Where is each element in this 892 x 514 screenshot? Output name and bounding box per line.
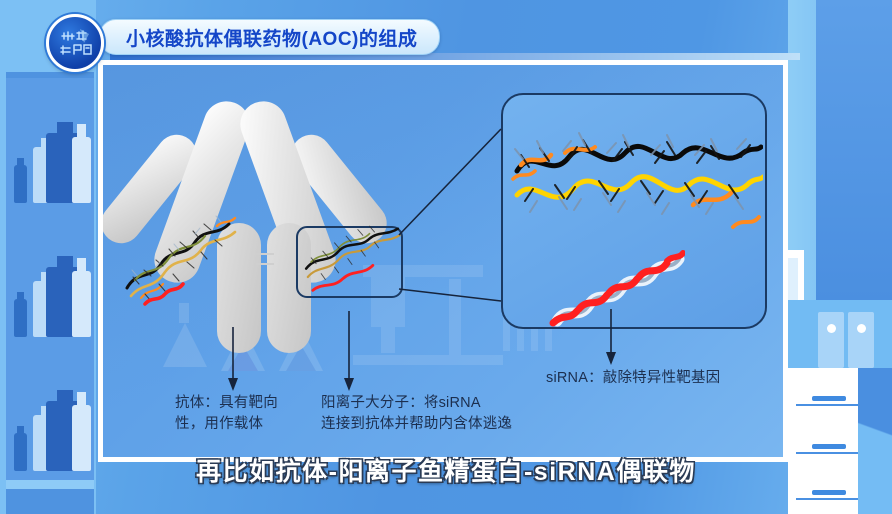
drawer-stack [788,368,864,514]
cabinet-door-left [818,312,844,368]
content-panel: 抗体：具有靶向 性，用作载体 阳离子大分子：将siRNA 连接到抗体并帮助内含体… [98,60,788,462]
subtitle-caption: 再比如抗体-阳离子鱼精蛋白-siRNA偶联物 [0,452,892,488]
slide-canvas: 抗体：具有靶向 性，用作载体 阳离子大分子：将siRNA 连接到抗体并帮助内含体… [0,0,892,514]
annotation-sirna: siRNA：敲除特异性靶基因 [546,368,720,389]
cabinet-door-right [848,312,874,368]
bottle-small-dark [14,299,27,337]
bottle-tall-light [72,271,91,337]
cabinet-knob-icon [857,324,866,333]
drawer-handle [812,444,846,449]
drawer-divider [796,498,858,500]
right-wall-background [788,0,892,514]
page-title: 小核酸抗体偶联药物(AOC)的组成 [126,24,417,51]
annotation-cationic-polymer: 阳离子大分子：将siRNA 连接到抗体并帮助内含体逃逸 [321,393,512,435]
cabinet-side-wedge [858,368,892,514]
drawer-divider [796,404,858,406]
bottle-tall-light [72,137,91,203]
drawer-handle [812,490,846,495]
brand-logo-icon [46,14,104,72]
logo-glyph [55,23,95,63]
drawer-handle [812,396,846,401]
bottle-small-dark [14,165,27,203]
annotation-antibody: 抗体：具有靶向 性，用作载体 [175,393,278,435]
right-wall-shadow [816,0,892,300]
shelf-row-1 [6,78,94,221]
title-pill: 小核酸抗体偶联药物(AOC)的组成 [99,19,440,55]
shelf-row-2 [6,212,94,355]
cabinet-knob-icon [827,324,836,333]
